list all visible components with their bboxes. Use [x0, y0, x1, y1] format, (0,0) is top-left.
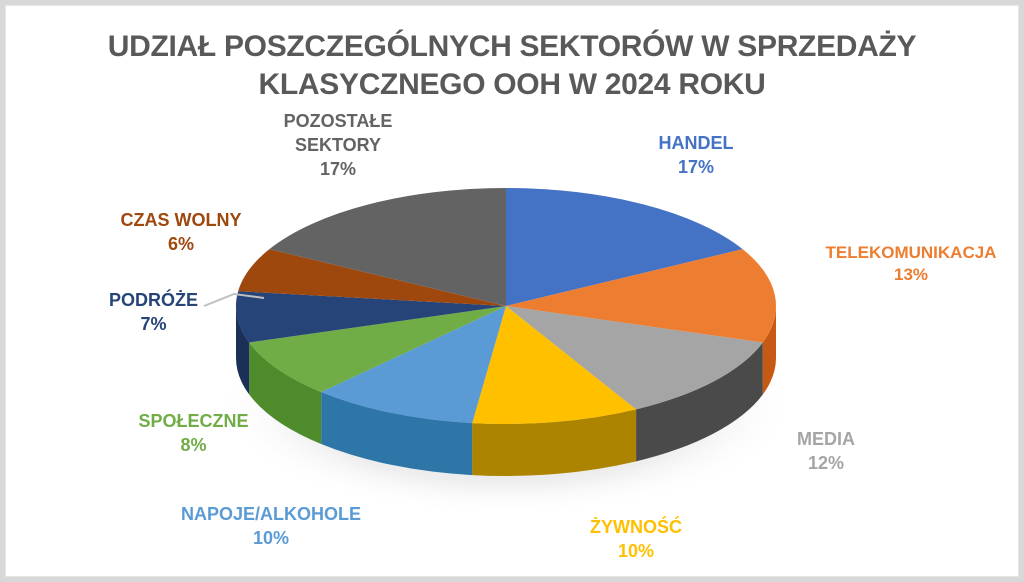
- pie-label-spoleczne: SPOŁECZNE 8%: [101, 410, 286, 458]
- pie-chart: HANDEL 17% TELEKOMUNIKACJA 13% MEDIA 12%…: [6, 6, 1018, 576]
- pie-label-pozostale-sektory: POZOSTAŁE SEKTORY 17%: [238, 110, 438, 181]
- pie-label-media: MEDIA 12%: [741, 428, 911, 476]
- chart-frame: UDZIAŁ POSZCZEGÓLNYCH SEKTORÓW W SPRZEDA…: [6, 6, 1018, 576]
- pie-label-podroze: PODRÓŻE 7%: [71, 289, 236, 337]
- pie-slices: [236, 188, 776, 476]
- pie-label-napoje-alkohole: NAPOJE/ALKOHOLE 10%: [146, 503, 396, 551]
- pie-label-czas-wolny: CZAS WOLNY 6%: [86, 209, 276, 257]
- pie-label-handel: HANDEL 17%: [606, 132, 786, 180]
- pie-label-zywnosc: ŻYWNOŚĆ 10%: [536, 516, 736, 564]
- pie-label-telekomunikacja: TELEKOMUNIKACJA 13%: [796, 242, 1024, 287]
